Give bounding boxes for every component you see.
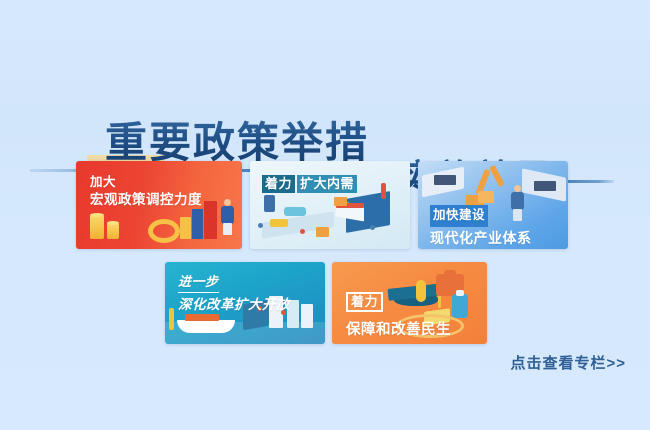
card-improve-peoples-livelihood[interactable]: 着力 保障和改善民生 (332, 262, 487, 344)
policy-banner: 重要政策举措 及实施效果 加大 宏观政策调控力度 (0, 0, 650, 430)
card5-line2: 保障和改善民生 (346, 318, 451, 339)
crowd-dot-3 (370, 225, 375, 230)
chart-bar-2 (192, 209, 203, 239)
card5-line1: 着力 (346, 292, 383, 312)
card3-line1-wrap: 加快建设 (430, 205, 532, 227)
card-label-reform-opening: 进一步 深化改革扩大开放 (178, 273, 290, 314)
card3-line1: 加快建设 (430, 205, 488, 227)
car-icon (284, 207, 306, 216)
card-deepen-reform-opening[interactable]: 进一步 深化改革扩大开放 (165, 262, 325, 344)
cargo-ship-icon (177, 320, 235, 333)
medicine-bottle-cap-icon (456, 290, 464, 296)
phone-icon (264, 195, 275, 212)
card1-line2: 宏观政策调控力度 (90, 191, 202, 209)
crate-icon-2 (478, 191, 494, 203)
crane-post-icon (169, 308, 174, 330)
crowd-dot-1 (258, 223, 263, 228)
card-modern-industrial-system[interactable]: 加快建设 现代化产业体系 (418, 161, 568, 249)
parcel-icon-2 (334, 197, 347, 206)
title-block: 重要政策举措 及实施效果 (0, 58, 650, 150)
card2-chip-group: 着力 扩大内需 (262, 175, 357, 193)
coin-stack-short-icon (107, 223, 119, 239)
machine-left-panel (434, 175, 456, 185)
suitcase-handle-icon (444, 270, 456, 276)
worker-head (514, 185, 521, 192)
card1-line1: 加大 (90, 173, 202, 191)
card-label-domestic-demand: 着力 扩大内需 (262, 175, 357, 193)
card5-line1-wrap: 着力 (346, 292, 451, 312)
person-body (221, 206, 234, 224)
crowd-dot-2 (300, 229, 305, 234)
person-legs (223, 223, 232, 235)
card2-line2: 扩大内需 (297, 175, 357, 193)
coin-stack-tall-icon (90, 215, 104, 239)
person-figure (220, 199, 236, 241)
torus-icon (148, 219, 180, 243)
robot-arm-segment-2 (489, 165, 505, 187)
parcel-icon-1 (316, 227, 329, 237)
card-policy-regulation[interactable]: 加大 宏观政策调控力度 (76, 161, 242, 249)
card2-line1: 着力 (262, 175, 295, 193)
card4-line1: 进一步 (178, 273, 219, 293)
chart-bar-1 (180, 217, 191, 239)
port-building-4 (301, 304, 313, 328)
card-label-livelihood: 着力 保障和改善民生 (346, 292, 451, 339)
ship-containers (185, 314, 219, 321)
card-expand-domestic-demand[interactable]: 着力 扩大内需 (250, 161, 410, 249)
person-head (224, 199, 231, 206)
chart-bar-3 (204, 201, 217, 239)
card-label-policy-regulation: 加大 宏观政策调控力度 (90, 173, 202, 209)
view-column-link[interactable]: 点击查看专栏>> (510, 352, 626, 373)
taxi-icon (270, 219, 288, 227)
machine-right-panel (534, 181, 556, 191)
page-title-line1: 重要政策举措 (105, 120, 369, 166)
signal-post-icon (381, 183, 386, 199)
card4-line2: 深化改革扩大开放 (178, 296, 290, 314)
card-label-industrial-system: 加快建设 现代化产业体系 (430, 205, 532, 248)
card3-line2: 现代化产业体系 (430, 229, 532, 248)
medicine-bottle-icon (452, 294, 468, 318)
